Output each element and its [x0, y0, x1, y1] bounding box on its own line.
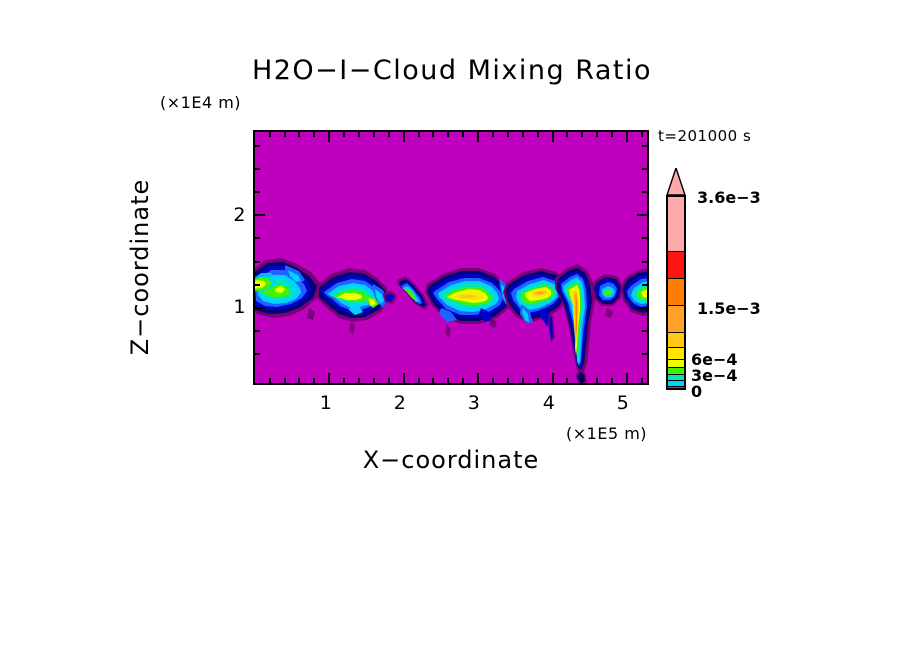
- colorbar-band-6: [668, 360, 684, 368]
- figure-canvas: H2O−I−Cloud Mixing Ratio (×1E4 m) t=2010…: [0, 0, 904, 654]
- y-tick-label-1: 1: [222, 296, 246, 318]
- colorbar-label-4: 0: [691, 382, 702, 401]
- colorbar-label-0: 3.6e−3: [697, 188, 761, 207]
- y-tick-label-2: 2: [222, 204, 246, 226]
- colorbar: [666, 195, 686, 390]
- contour-plot-area: [253, 130, 649, 385]
- x-axis-unit-label: (×1E5 m): [566, 424, 647, 443]
- colorbar-band-0: [668, 197, 684, 252]
- x-tick-label-3: 3: [459, 392, 489, 414]
- x-tick-label-4: 4: [534, 392, 564, 414]
- plot-tick-marks: [255, 132, 647, 383]
- time-annotation: t=201000 s: [658, 127, 751, 145]
- y-axis-unit-label: (×1E4 m): [160, 93, 241, 112]
- colorbar-band-5: [668, 348, 684, 360]
- colorbar-band-7: [668, 368, 684, 375]
- colorbar-band-2: [668, 279, 684, 306]
- x-tick-label-5: 5: [608, 392, 638, 414]
- y-axis-title: Z−coordinate: [126, 69, 154, 465]
- x-tick-label-1: 1: [311, 392, 341, 414]
- colorbar-label-1: 1.5e−3: [697, 299, 761, 318]
- colorbar-band-1: [668, 252, 684, 279]
- colorbar-band-3: [668, 306, 684, 333]
- x-axis-title: X−coordinate: [253, 446, 649, 474]
- colorbar-band-4: [668, 333, 684, 348]
- x-tick-label-2: 2: [385, 392, 415, 414]
- colorbar-extend-arrow: [666, 168, 686, 196]
- colorbar-band-10: [668, 387, 684, 390]
